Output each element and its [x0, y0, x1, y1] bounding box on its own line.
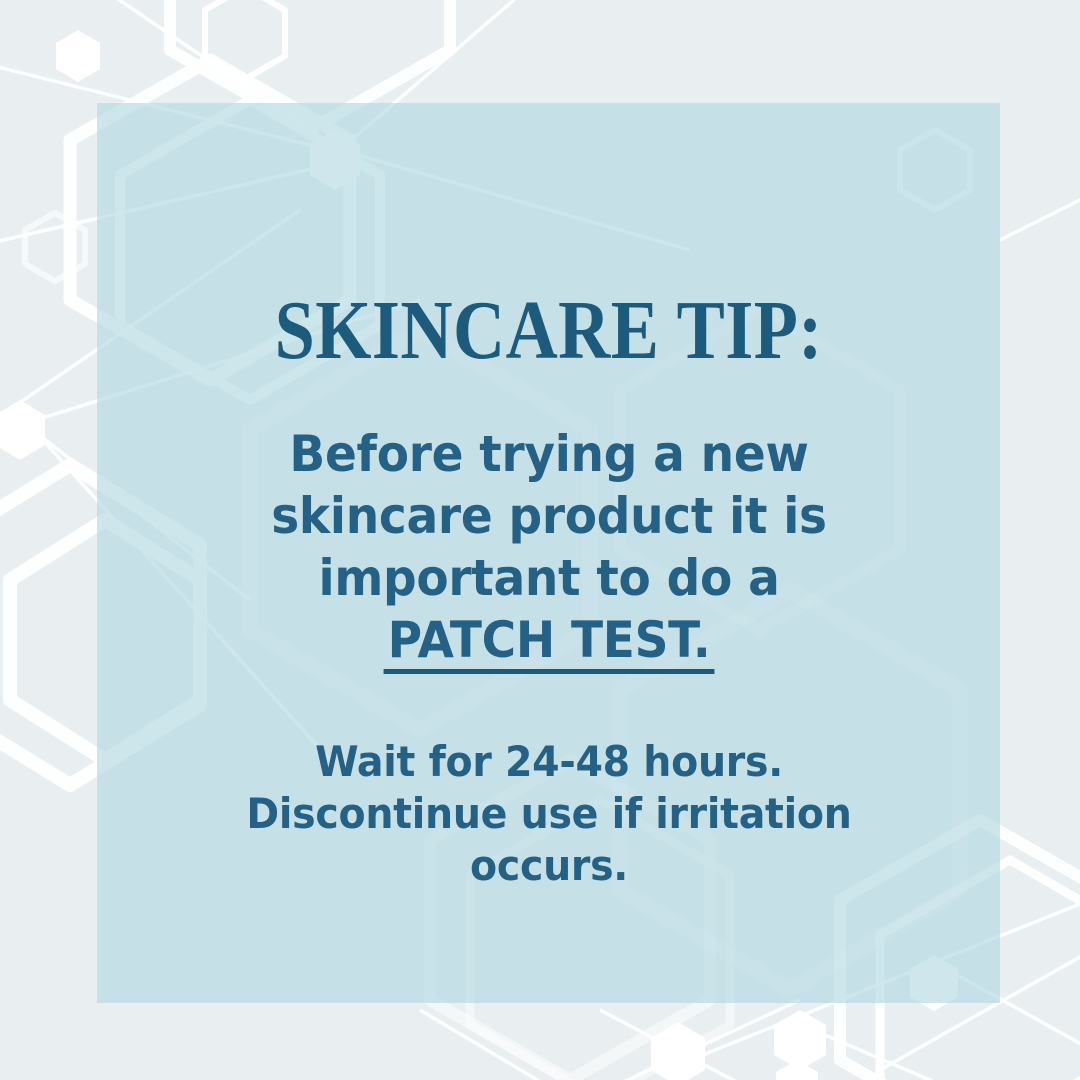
secondary-message-line-1: Wait for 24-48 hours.: [173, 736, 925, 788]
primary-message: Before trying a new skincare product it …: [187, 423, 911, 674]
primary-message-lead: Before trying a new skincare product it …: [271, 425, 827, 607]
secondary-message: Wait for 24-48 hours. Discontinue use if…: [173, 736, 925, 892]
poster-content: SKINCARE TIP: Before trying a new skinca…: [97, 103, 1000, 1003]
secondary-message-line-2: Discontinue use if irritation occurs.: [173, 788, 925, 892]
patch-test-emphasis: PATCH TEST.: [383, 615, 713, 674]
page-title: SKINCARE TIP:: [274, 289, 822, 373]
skincare-tip-poster: SKINCARE TIP: Before trying a new skinca…: [0, 0, 1080, 1080]
